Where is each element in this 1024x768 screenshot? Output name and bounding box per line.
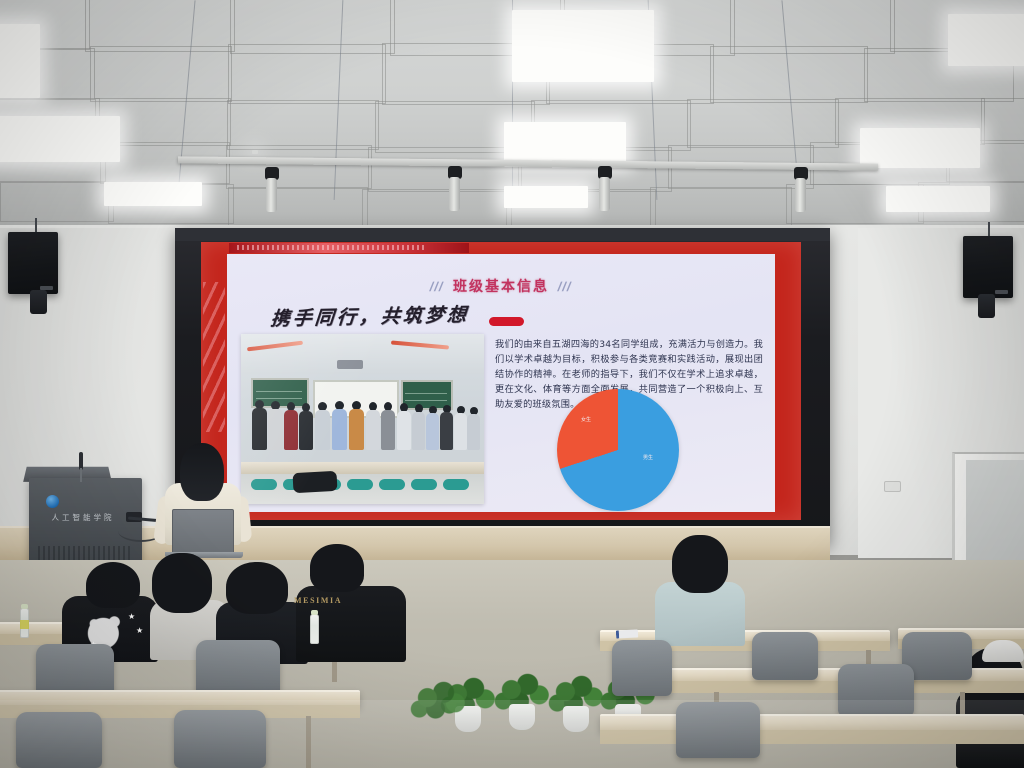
ceiling-light-panel <box>252 150 258 154</box>
microphone-stem <box>80 468 82 482</box>
accent-bar <box>489 317 524 326</box>
institute-logo-icon <box>46 495 59 508</box>
jacket-brand-text: MESIMIA <box>294 596 342 605</box>
pie-label-female: 女生 <box>581 417 591 423</box>
slash-decoration-right: /// <box>556 279 573 294</box>
student-hair <box>310 544 364 592</box>
bottle-cap <box>311 610 318 615</box>
speaker-bracket <box>30 290 47 314</box>
chair[interactable] <box>752 632 818 680</box>
speaker-bracket <box>978 294 995 318</box>
chair[interactable] <box>612 640 672 696</box>
floor-reflection <box>0 700 1024 768</box>
podium-institution-label: 人工智能学院 <box>34 512 132 523</box>
student-hair <box>152 553 212 613</box>
presentation-slide[interactable]: /// 班级基本信息 /// 携手同行，共筑梦想 <box>201 242 801 520</box>
ceiling-light-panel <box>948 14 1024 66</box>
lecture-hall-scene: /// 班级基本信息 /// 携手同行，共筑梦想 <box>0 0 1024 768</box>
ceiling-light-panel <box>886 186 990 212</box>
slide-page: /// 班级基本信息 /// 携手同行，共筑梦想 <box>227 254 775 512</box>
slide-title: 班级基本信息 <box>453 276 549 296</box>
ceiling-light-panel <box>504 186 588 208</box>
pie-label-male: 男生 <box>643 455 653 461</box>
wall-speaker-right <box>963 236 1013 298</box>
student-hair <box>86 562 140 608</box>
spotlight-body <box>795 178 806 212</box>
bottle-cap <box>21 604 28 609</box>
slide-left-decoration <box>203 282 225 432</box>
student-hair <box>226 562 288 614</box>
ceiling-light-panel <box>0 24 40 98</box>
bottle-label <box>20 620 29 629</box>
spotlight-body <box>449 177 460 211</box>
spotlight-body <box>266 178 277 212</box>
speaker-wire <box>988 222 990 236</box>
pie-chart-slices <box>557 389 679 511</box>
star-decoration: ★ <box>136 626 143 635</box>
presenter-hair <box>180 443 224 501</box>
ceiling-light-panel <box>512 10 654 82</box>
chair[interactable] <box>196 640 280 696</box>
student-hair <box>672 535 728 593</box>
projection-screen-bezel: /// 班级基本信息 /// 携手同行，共筑梦想 <box>175 228 830 544</box>
screen-top-strip <box>175 228 830 241</box>
ceiling-light-panel <box>504 122 626 164</box>
spotlight-body <box>599 177 610 211</box>
presenter-laptop-screen[interactable] <box>172 509 234 554</box>
star-decoration: ★ <box>128 612 135 621</box>
ceiling <box>0 0 1024 232</box>
notebook[interactable] <box>616 629 638 638</box>
slash-decoration-left: /// <box>429 279 446 294</box>
ceiling-light-panel <box>0 116 120 162</box>
slide-title-row: /// 班级基本信息 /// <box>227 276 775 296</box>
calligraphy-subtitle: 携手同行，共筑梦想 <box>270 300 471 331</box>
pie-chart: 男生 女生 <box>557 389 679 511</box>
wall-sensor <box>884 481 901 492</box>
water-bottle[interactable] <box>310 614 319 644</box>
slide-top-decoration <box>229 243 469 253</box>
ceiling-light-panel <box>104 182 202 206</box>
ceiling-light-panel <box>860 128 980 168</box>
speaker-brand-label <box>995 290 1008 294</box>
class-group-photo <box>241 334 484 504</box>
wall-speaker-left <box>8 232 58 294</box>
